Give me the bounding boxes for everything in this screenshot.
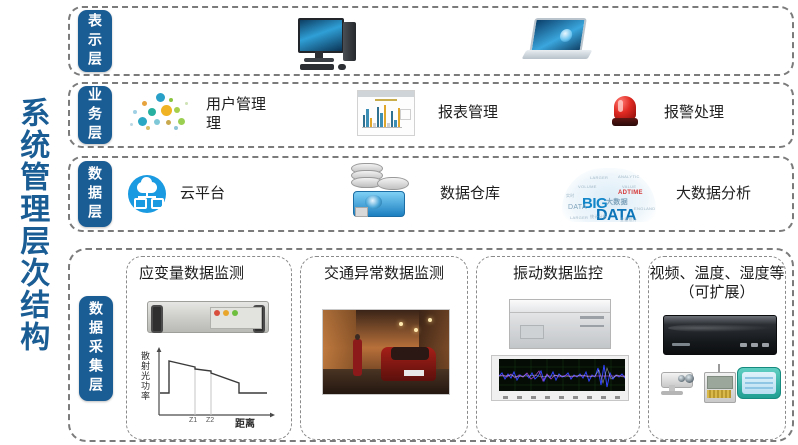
panel-title-strain: 应变量数据监测: [127, 265, 291, 284]
laptop-computer-icon: [524, 18, 592, 64]
wordcloud-adtime: ADTIME: [618, 190, 643, 196]
business-item-label-user-management: 用户管理理: [206, 96, 276, 134]
tunnel-traffic-photo: [322, 309, 450, 395]
nvr-recorder-image: [663, 315, 777, 355]
panel-title-traffic: 交通异常数据监测: [301, 265, 467, 284]
acquisition-panel-video-temp-humidity[interactable]: 视频、温度、湿度等 （可扩展）: [648, 256, 786, 440]
big-data-wordcloud-icon: LARGER ANALYTIC VOLUME VALUE ADTIME BIG …: [560, 162, 658, 226]
panel-title-video-temp-humidity: 视频、温度、湿度等 （可扩展）: [649, 265, 785, 303]
data-warehouse-icon: [347, 163, 409, 219]
alarm-beacon-icon: [612, 94, 638, 128]
panel-title-vibration: 振动数据监控: [477, 265, 639, 284]
waveform-axis: [499, 392, 625, 400]
acquisition-panel-vibration[interactable]: 振动数据监控: [476, 256, 640, 440]
layer-badge-label-acquisition: 数据采集层: [89, 301, 103, 396]
sensor-device-row: [657, 361, 781, 405]
strain-chart-xlabel: 距离: [235, 415, 255, 430]
layer-band-presentation: [68, 6, 794, 76]
layer-badge-label-presentation: 表示层: [88, 13, 102, 70]
cloud-platform-icon: [128, 175, 166, 213]
vibration-cabinet-image: [509, 299, 611, 349]
layer-badge-business: 业务层: [78, 86, 112, 144]
layer-badge-presentation: 表示层: [78, 10, 112, 72]
layer-badge-data: 数据层: [78, 161, 112, 227]
strain-chart-tick-z2: Z2: [206, 417, 214, 424]
business-item-label-alarm-handling: 报警处理: [664, 104, 724, 123]
strain-chart: 散射光功率 Z1 Z2 距离: [139, 345, 281, 433]
acquisition-panel-strain[interactable]: 应变量数据监测 散射光功率 Z1 Z2 距离: [126, 256, 292, 440]
strain-interrogator-device-image: [147, 301, 269, 333]
layer-badge-acquisition: 数据采集层: [79, 296, 113, 401]
vibration-waveform-display: [491, 355, 629, 401]
data-item-label-big-data-analysis: 大数据分析: [676, 185, 751, 204]
layer-badge-label-data: 数据层: [88, 166, 102, 223]
business-item-label-report-management: 报表管理: [438, 104, 498, 123]
vertical-title-text: 系统管理层次结构: [16, 97, 47, 353]
layer-badge-label-business: 业务层: [88, 87, 102, 144]
strain-chart-tick-z1: Z1: [189, 417, 197, 424]
data-item-label-cloud-platform: 云平台: [180, 185, 225, 204]
desktop-computer-icon: [298, 18, 358, 71]
touch-display-panel-icon: [737, 367, 781, 399]
bar-chart-report-icon: [357, 90, 415, 136]
waveform-screen: [499, 359, 625, 391]
acquisition-panel-traffic[interactable]: 交通异常数据监测: [300, 256, 468, 440]
diagram-vertical-title: 系统管理层次结构: [2, 60, 60, 390]
data-item-label-data-warehouse: 数据仓库: [440, 185, 500, 204]
temperature-humidity-sensor-icon: [704, 364, 734, 402]
user-network-icon: [128, 92, 194, 134]
ptz-camera-icon: [657, 368, 701, 398]
